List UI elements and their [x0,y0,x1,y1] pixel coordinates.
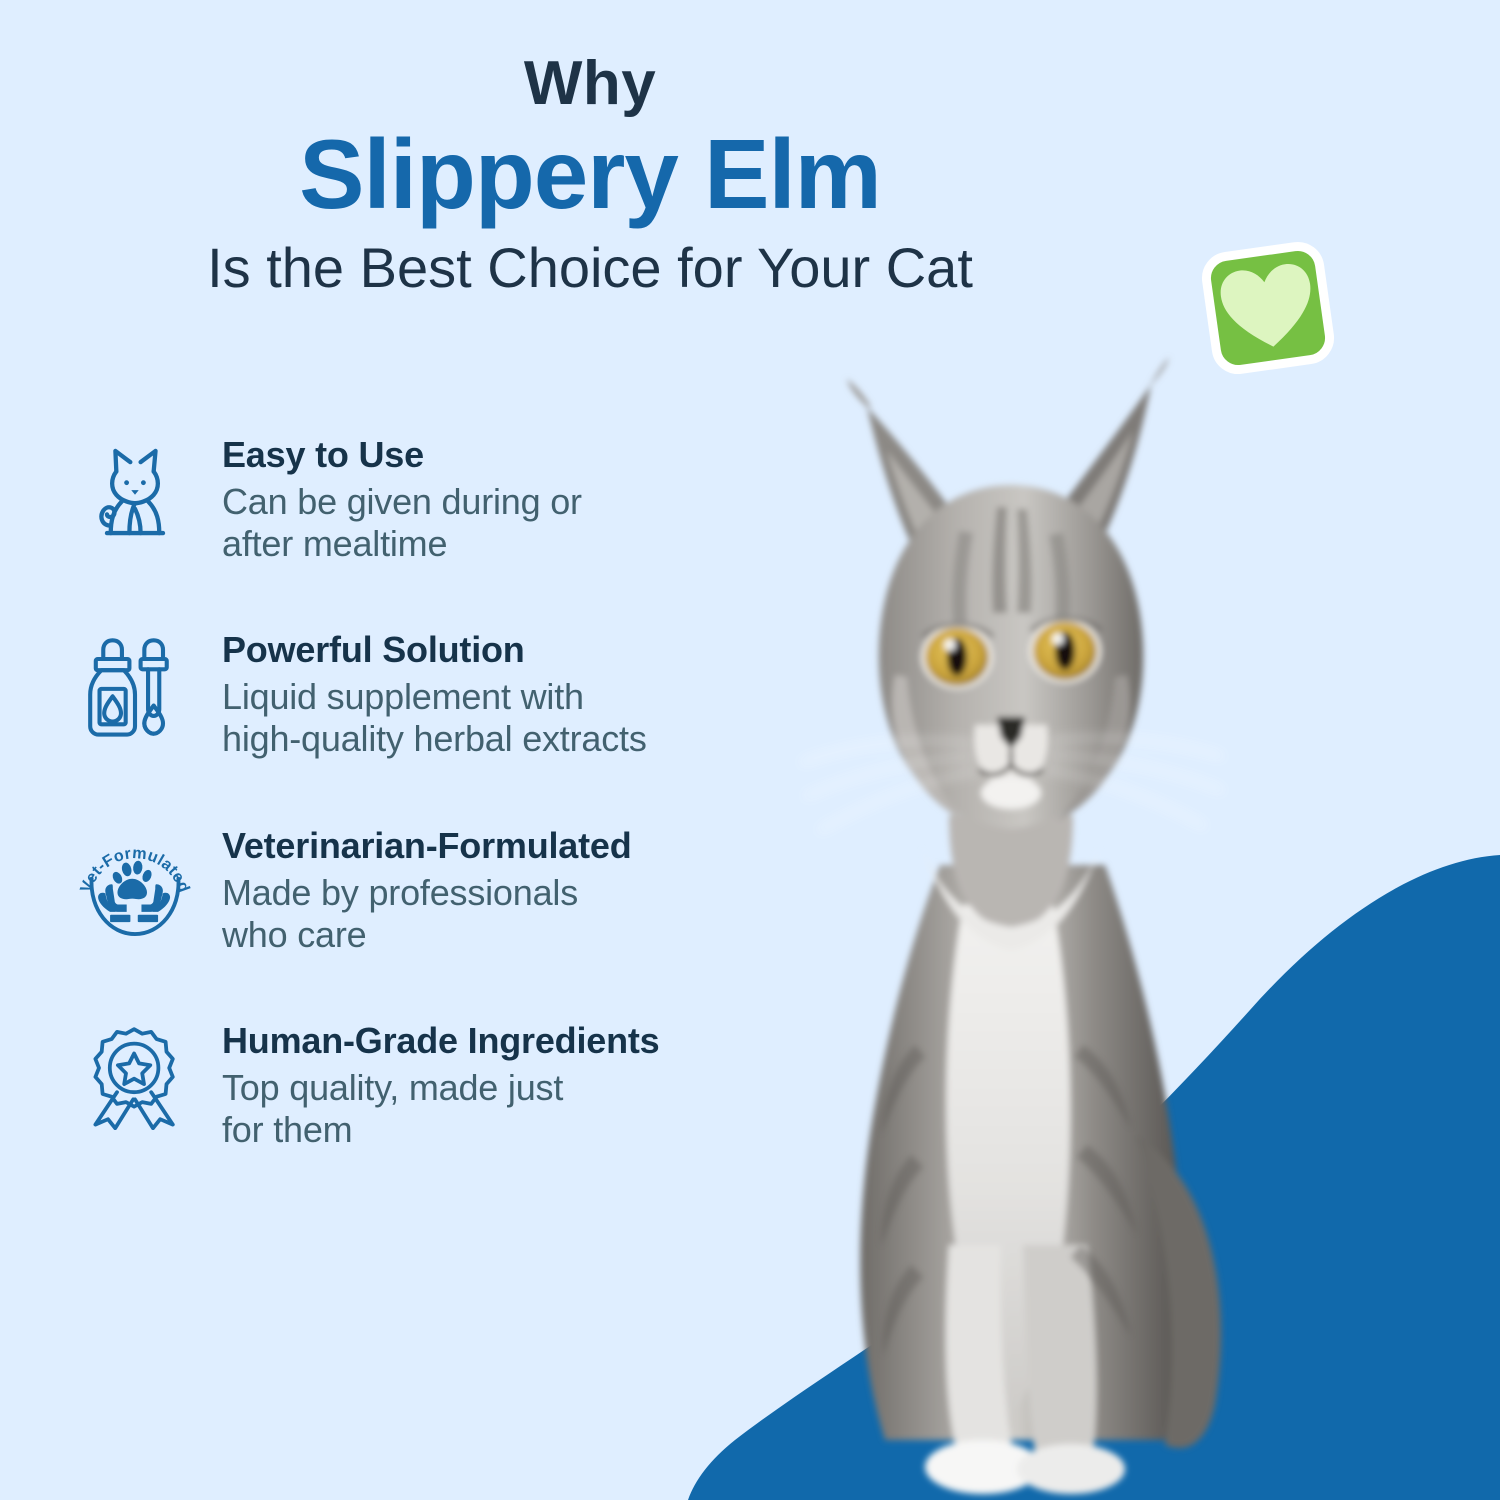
headline-subtitle: Is the Best Choice for Your Cat [0,237,1180,299]
promo-banner: Why Slippery Elm Is the Best Choice for … [0,0,1500,1500]
feature-title: Powerful Solution [222,629,770,670]
feature-text: Veterinarian-Formulated Made by professi… [200,823,770,956]
feature-item: Vet-Formulated [70,823,770,956]
feature-list: Easy to Use Can be given during or after… [70,432,770,1151]
heart-icon [1195,235,1342,382]
feature-desc: Can be given during or after mealtime [222,481,770,565]
cat-photo [735,345,1295,1500]
cat-icon [70,432,200,562]
page-title: Why Slippery Elm Is the Best Choice for … [0,52,1180,298]
feature-text: Human-Grade Ingredients Top quality, mad… [200,1018,770,1151]
feature-desc: Liquid supplement with high-quality herb… [222,676,770,760]
feature-item: Human-Grade Ingredients Top quality, mad… [70,1018,770,1151]
feature-item: Easy to Use Can be given during or after… [70,432,770,565]
vet-formulated-icon: Vet-Formulated [70,823,200,953]
headline-why: Why [0,52,1180,115]
headline-brand: Slippery Elm [0,117,1180,233]
feature-desc: Made by professionals who care [222,872,770,956]
feature-title: Easy to Use [222,434,770,475]
feature-title: Human-Grade Ingredients [222,1020,770,1061]
feature-desc: Top quality, made just for them [222,1067,770,1151]
feature-text: Easy to Use Can be given during or after… [200,432,770,565]
dropper-bottle-icon [70,627,200,757]
feature-item: Powerful Solution Liquid supplement with… [70,627,770,760]
feature-title: Veterinarian-Formulated [222,825,770,866]
feature-text: Powerful Solution Liquid supplement with… [200,627,770,760]
award-ribbon-icon [70,1018,200,1148]
